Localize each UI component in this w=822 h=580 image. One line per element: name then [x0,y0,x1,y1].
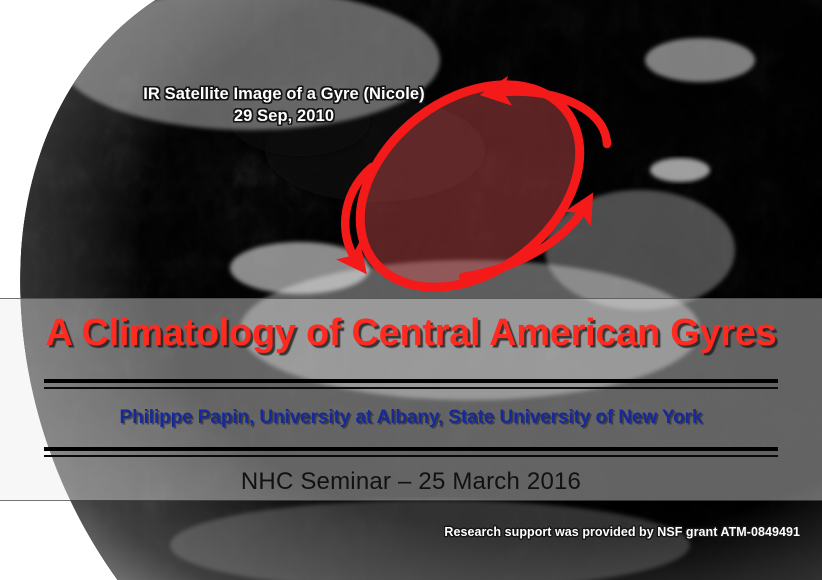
caption-line-1: IR Satellite Image of a Gyre (Nicole) [143,85,425,103]
author-affiliation: Philippe Papin, University at Albany, St… [0,407,822,429]
divider-below-author [44,447,778,457]
title-slide: IR Satellite Image of a Gyre (Nicole) 29… [0,0,822,580]
divider-thick-bar [44,447,778,451]
page-title: A Climatology of Central American Gyres [0,312,822,355]
divider-thin-line [44,387,778,389]
image-caption: IR Satellite Image of a Gyre (Nicole) 29… [64,84,504,128]
divider-thin-line [44,455,778,457]
band-rule-bottom [0,500,822,501]
funding-acknowledgment: Research support was provided by NSF gra… [444,525,800,539]
caption-line-2: 29 Sep, 2010 [64,106,504,128]
divider-above-author [44,379,778,389]
divider-thick-bar [44,379,778,383]
band-rule-top [0,298,822,299]
event-and-date: NHC Seminar – 25 March 2016 [0,468,822,496]
